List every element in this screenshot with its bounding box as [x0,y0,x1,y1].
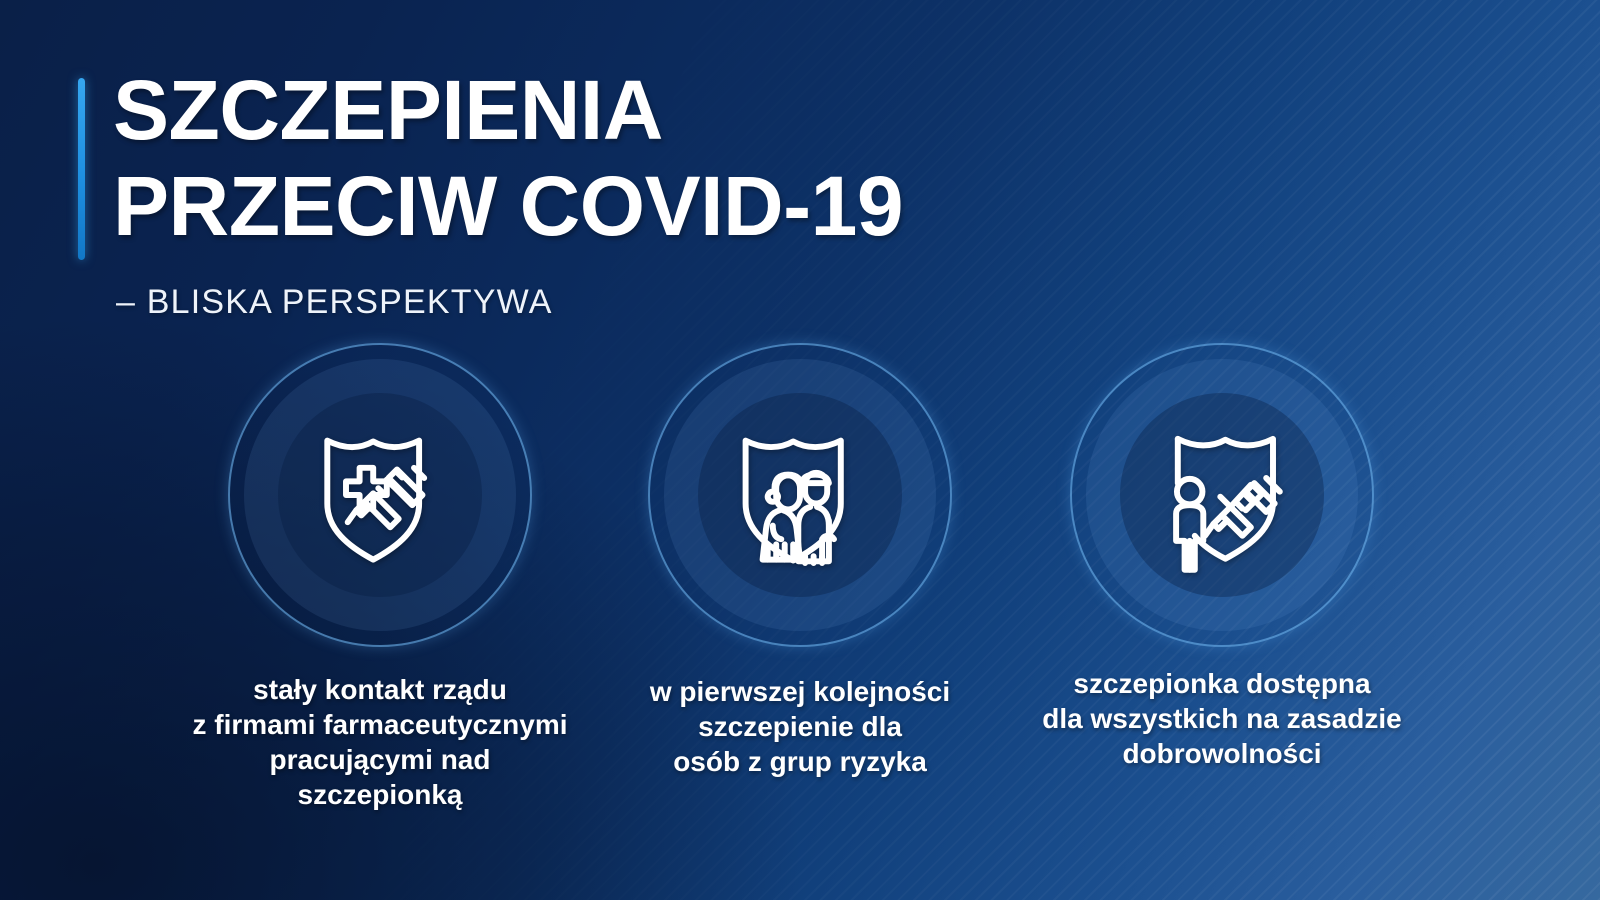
title-line-1: SZCZEPIENIA [113,62,903,158]
feature-caption-1: stały kontakt rządu z firmami farmaceuty… [192,672,567,812]
shield-elderly-couple-icon [715,410,885,580]
feature-caption-2: w pierwszej kolejności szczepienie dla o… [650,674,950,779]
feature-column-3: szczepionka dostępna dla wszystkich na z… [1012,340,1432,771]
icon-badge-1 [225,340,535,650]
icon-badge-2 [645,340,955,650]
shield-cross-syringe-icon [295,410,465,580]
accent-bar [78,78,85,260]
title-line-2: PRZECIW COVID-19 [113,158,903,254]
icon-badge-3 [1067,340,1377,650]
poster-canvas: SZCZEPIENIA PRZECIW COVID-19 – BLISKA PE… [0,0,1600,900]
feature-column-1: stały kontakt rządu z firmami farmaceuty… [170,340,590,812]
feature-caption-3: szczepionka dostępna dla wszystkich na z… [1042,666,1402,771]
page-subtitle: – BLISKA PERSPEKTYWA [116,282,553,322]
person-shield-check-syringe-icon [1137,410,1307,580]
page-title: SZCZEPIENIA PRZECIW COVID-19 [113,62,903,254]
feature-columns: stały kontakt rządu z firmami farmaceuty… [0,340,1600,860]
feature-column-2: w pierwszej kolejności szczepienie dla o… [590,340,1010,779]
